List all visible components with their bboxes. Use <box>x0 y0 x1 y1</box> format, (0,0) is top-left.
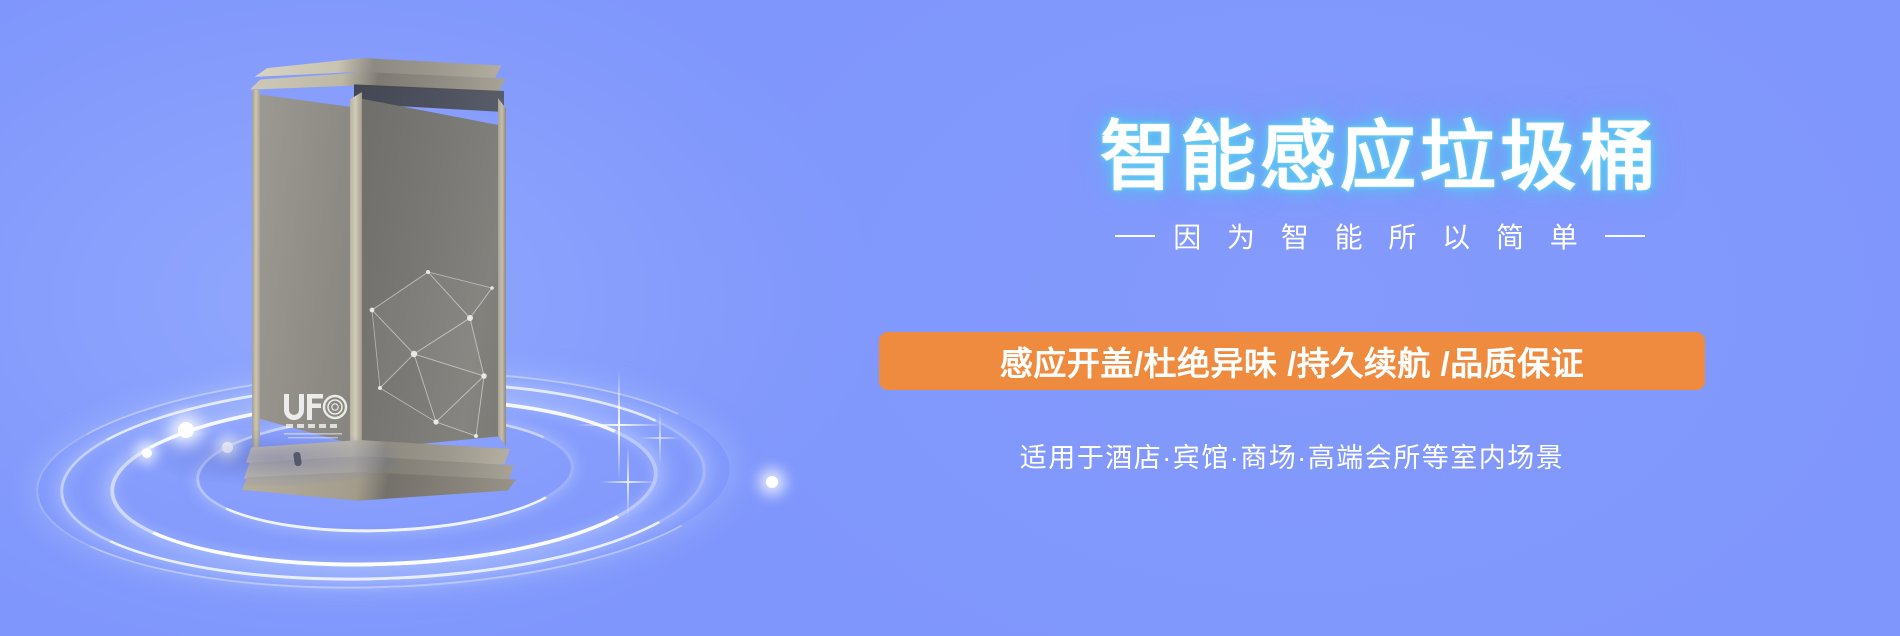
tagline-rule-left <box>1115 235 1155 237</box>
sparkle-star <box>576 370 662 480</box>
product-visual <box>0 0 860 636</box>
ring-glow-dot <box>178 422 194 438</box>
ring-glow-dot <box>222 442 233 453</box>
bin-corner-pillar <box>350 92 362 452</box>
ring-glow-dot <box>766 476 778 488</box>
bin-edge-left-trim <box>252 90 260 448</box>
tagline-row: 因 为 智 能 所 以 简 单 <box>1040 216 1720 256</box>
sparkle-star <box>600 446 656 518</box>
low-poly-network-graphic <box>366 258 502 458</box>
product-banner: 智能感应垃圾桶 因 为 智 能 所 以 简 单 感应开盖/杜绝异味 /持久续航 … <box>0 0 1900 636</box>
features-text: 感应开盖/杜绝异味 /持久续航 /品质保证 <box>1000 337 1584 385</box>
copy-block: 智能感应垃圾桶 因 为 智 能 所 以 简 单 感应开盖/杜绝异味 /持久续航 … <box>860 0 1900 636</box>
tagline-rule-right <box>1605 235 1645 237</box>
ring-glow-dot <box>142 448 152 458</box>
smart-trash-bin <box>246 58 510 458</box>
tagline-text: 因 为 智 能 所 以 简 单 <box>1173 216 1586 256</box>
sparkle-star <box>640 412 680 464</box>
features-badge: 感应开盖/杜绝异味 /持久续航 /品质保证 <box>879 332 1705 390</box>
ufo-brand-logo <box>280 390 350 442</box>
usage-scenes-text: 适用于酒店·宾馆·商场·高端会所等室内场景 <box>879 436 1705 475</box>
page-title: 智能感应垃圾桶 <box>1060 118 1700 198</box>
